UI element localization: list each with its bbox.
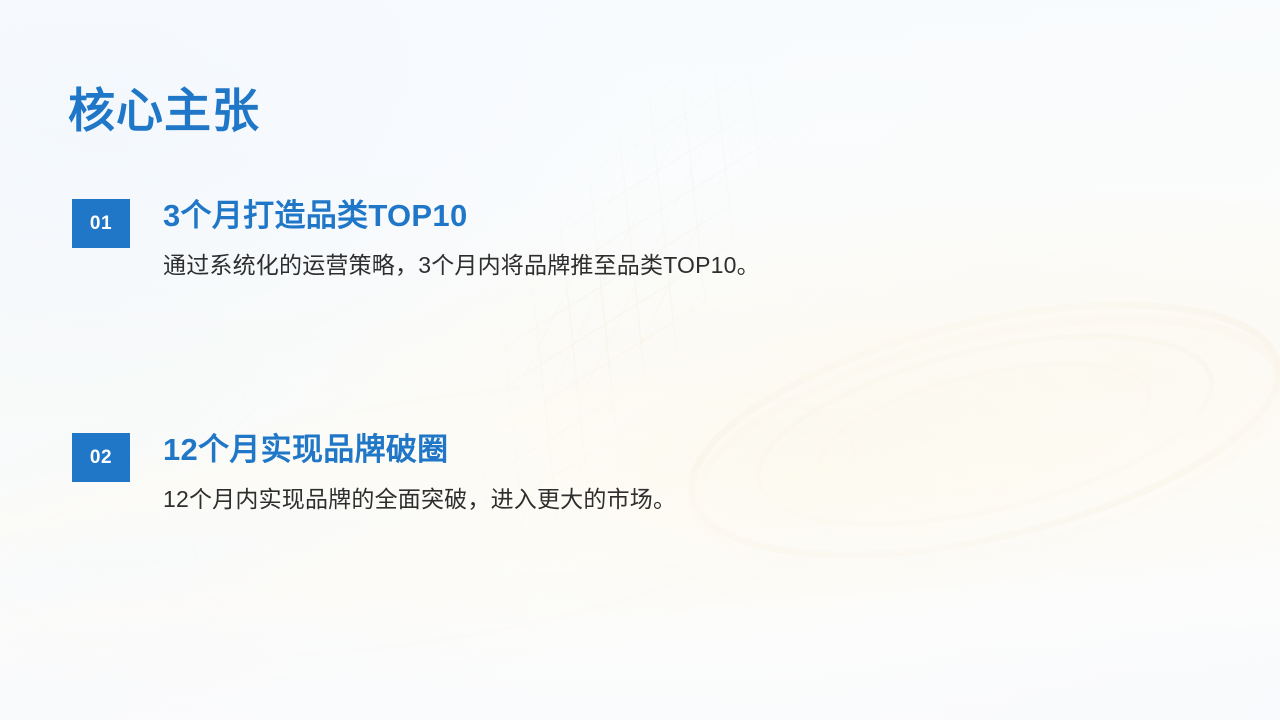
point-description: 通过系统化的运营策略，3个月内将品牌推至品类TOP10。 [163, 248, 1213, 283]
point-body: 3个月打造品类TOP10 通过系统化的运营策略，3个月内将品牌推至品类TOP10… [163, 196, 1213, 282]
page-title: 核心主张 [68, 83, 260, 138]
point-number-badge: 02 [72, 433, 130, 482]
point-description: 12个月内实现品牌的全面突破，进入更大的市场。 [163, 482, 1213, 517]
slide-content: 核心主张 01 3个月打造品类TOP10 通过系统化的运营策略，3个月内将品牌推… [0, 0, 1280, 720]
point-heading: 12个月实现品牌破圈 [163, 430, 1213, 471]
point-body: 12个月实现品牌破圈 12个月内实现品牌的全面突破，进入更大的市场。 [163, 430, 1213, 516]
slide: 核心主张 01 3个月打造品类TOP10 通过系统化的运营策略，3个月内将品牌推… [0, 0, 1280, 720]
point-heading: 3个月打造品类TOP10 [163, 196, 1213, 237]
point-number-badge: 01 [72, 199, 130, 248]
